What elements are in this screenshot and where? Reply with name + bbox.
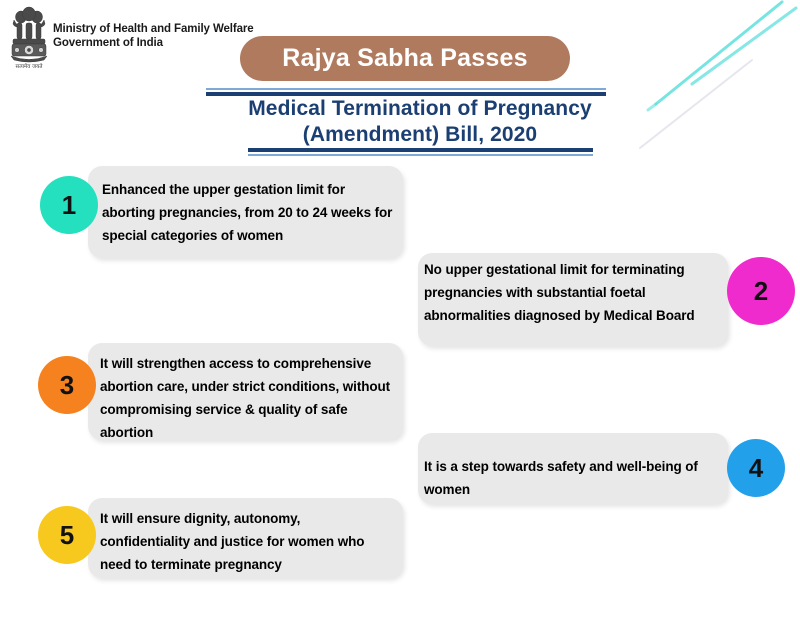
- point-badge-2-clip: 2: [712, 245, 800, 355]
- point-text-3: It will strengthen access to comprehensi…: [100, 352, 395, 444]
- point-number-5: 5: [60, 520, 74, 551]
- point-text-4: It is a step towards safety and well-bei…: [424, 455, 714, 501]
- point-text-1: Enhanced the upper gestation limit for a…: [102, 178, 394, 247]
- point-badge-4: 4: [727, 439, 785, 497]
- title-rule-top: [206, 88, 606, 96]
- title-badge-label: Rajya Sabha Passes: [282, 44, 527, 73]
- svg-text:सत्यमेव जयते: सत्यमेव जयते: [15, 63, 43, 70]
- point-badge-4-clip: 4: [712, 430, 800, 520]
- rule-line-light: [206, 88, 606, 90]
- point-badge-3: 3: [38, 356, 96, 414]
- point-number-1: 1: [62, 190, 76, 221]
- point-number-4: 4: [749, 453, 763, 484]
- title-rule-bottom: [248, 148, 593, 156]
- point-badge-2: 2: [727, 257, 795, 325]
- national-emblem-icon: सत्यमेव जयते: [6, 6, 52, 72]
- rule-line-dark: [248, 148, 593, 152]
- page-title-line-1: Medical Termination of Pregnancy: [150, 96, 690, 122]
- ministry-line-1: Ministry of Health and Family Welfare: [53, 22, 313, 36]
- point-text-5: It will ensure dignity, autonomy, confid…: [100, 507, 392, 576]
- page-title: Medical Termination of Pregnancy (Amendm…: [150, 96, 690, 148]
- point-badge-5: 5: [38, 506, 96, 564]
- point-number-2: 2: [754, 276, 768, 307]
- point-number-3: 3: [60, 370, 74, 401]
- infographic-canvas: सत्यमेव जयते Ministry of Health and Fami…: [0, 0, 800, 628]
- page-title-line-2: (Amendment) Bill, 2020: [150, 122, 690, 148]
- rule-line-light: [248, 154, 593, 156]
- point-badge-1: 1: [40, 176, 98, 234]
- title-badge: Rajya Sabha Passes: [240, 36, 570, 81]
- point-text-2: No upper gestational limit for terminati…: [424, 258, 717, 327]
